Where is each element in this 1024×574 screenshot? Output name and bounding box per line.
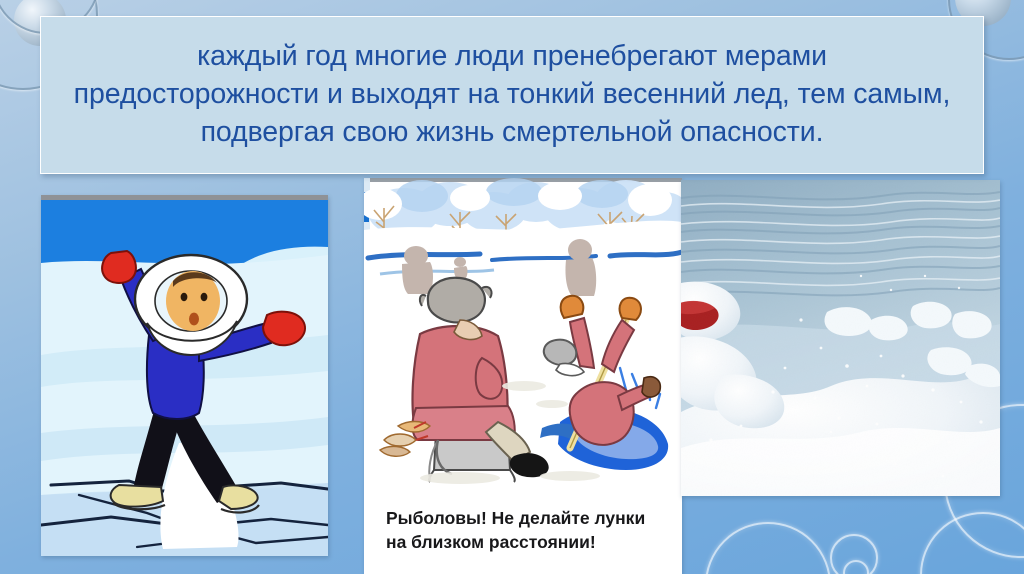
melting-ice-photo [681,180,1000,496]
caption-panel: каждый год многие люди пренебрегают мера… [40,16,984,174]
panel-body-text: каждый год многие люди пренебрегают мера… [72,38,952,152]
bottom-center-ring-icon [705,522,831,574]
slide-canvas: каждый год многие люди пренебрегают мера… [0,0,1024,574]
bottom-center-ring-small-icon [830,534,878,574]
caption-line-2: на близком расстоянии! [386,530,682,554]
fishermen-caption: Рыболовы! Не делайте лунки на близком ра… [364,486,682,574]
photo-skater [41,195,328,556]
photo-melting-ice [681,180,1000,496]
skater-illustration [41,195,328,556]
bottom-center-ring-tiny-icon [843,560,869,574]
photo-fishermen: Рыболовы! Не делайте лунки на близком ра… [364,178,682,574]
fishermen-illustration [364,178,682,488]
bottom-right-ring-icon [920,512,1024,574]
caption-line-1: Рыболовы! Не делайте лунки [386,506,682,530]
